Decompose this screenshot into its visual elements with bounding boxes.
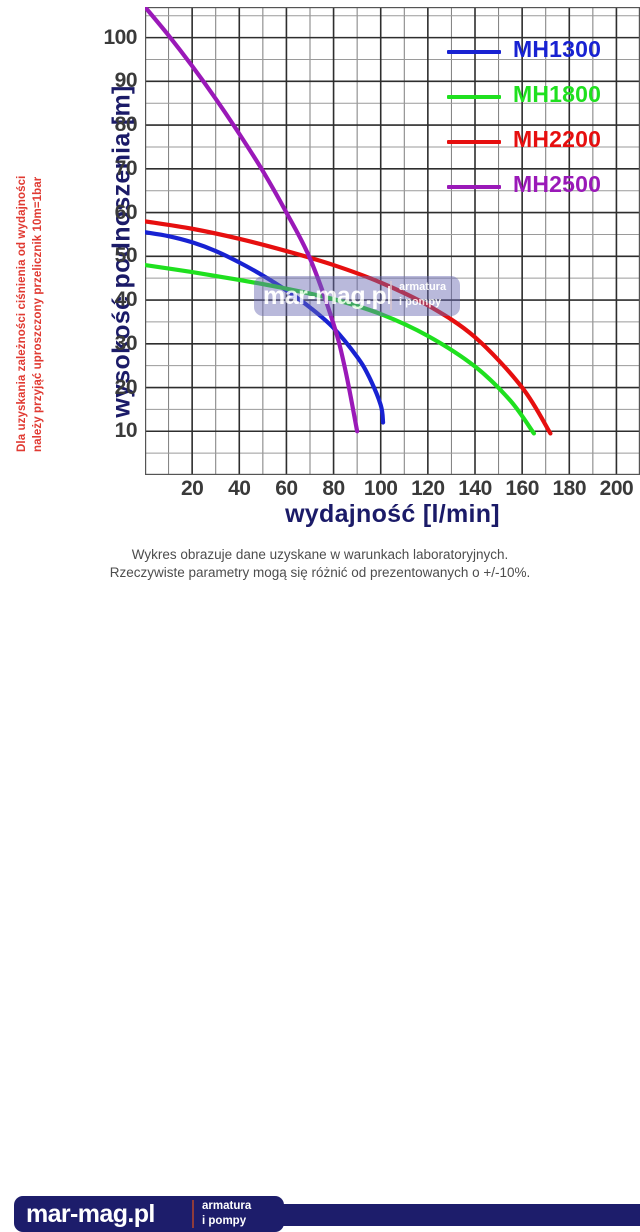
y-tick-label: 100 <box>89 27 137 48</box>
footnote-line-2: Rzeczywiste parametry mogą się różnić od… <box>0 564 640 582</box>
logo-divider <box>192 1200 194 1228</box>
logo-sub-text-1: armatura <box>202 1199 251 1214</box>
brand-bar-accent <box>268 1204 640 1226</box>
logo-main-text: mar-mag.pl <box>26 1199 155 1229</box>
watermark-main-text: mar-mag.pl <box>263 281 393 311</box>
y-tick-label: 40 <box>89 289 137 310</box>
y-tick-label: 30 <box>89 333 137 354</box>
x-tick-label: 200 <box>591 478 640 499</box>
footnote-line-1: Wykres obrazuje dane uzyskane w warunkac… <box>0 546 640 564</box>
footnote: Wykres obrazuje dane uzyskane w warunkac… <box>0 546 640 582</box>
x-tick-label: 80 <box>309 478 359 499</box>
y-tick-label: 60 <box>89 202 137 223</box>
brand-logo[interactable]: mar-mag.pl armatura i pompy <box>14 1196 284 1232</box>
y-tick-label: 50 <box>89 245 137 266</box>
legend-label: MH1300 <box>513 36 601 63</box>
x-tick-label: 160 <box>497 478 547 499</box>
x-tick-label: 180 <box>544 478 594 499</box>
x-tick-label: 60 <box>261 478 311 499</box>
bottom-bar: mar-mag.pl armatura i pompy <box>0 596 640 640</box>
y-tick-label: 90 <box>89 70 137 91</box>
y-tick-label: 20 <box>89 377 137 398</box>
legend-swatch-mh1300 <box>447 50 501 54</box>
legend-label: MH2500 <box>513 171 601 198</box>
y-tick-label: 70 <box>89 158 137 179</box>
x-tick-label: 120 <box>403 478 453 499</box>
legend-label: MH2200 <box>513 126 601 153</box>
x-tick-label: 20 <box>167 478 217 499</box>
watermark-sub-text-1: armatura <box>399 280 446 295</box>
x-tick-label: 100 <box>356 478 406 499</box>
watermark: mar-mag.pl armatura i pompy <box>254 276 460 316</box>
legend-swatch-mh2200 <box>447 140 501 144</box>
legend-label: MH1800 <box>513 81 601 108</box>
y-tick-label: 80 <box>89 114 137 135</box>
watermark-divider <box>390 281 392 310</box>
x-axis-title: wydajność [l/min] <box>145 500 640 529</box>
logo-sub-text-2: i pompy <box>202 1214 246 1229</box>
legend-swatch-mh2500 <box>447 185 501 189</box>
y-tick-label: 10 <box>89 420 137 441</box>
chart-page: Dla uzyskania zależności ciśnienia od wy… <box>0 0 640 640</box>
x-tick-label: 140 <box>450 478 500 499</box>
x-tick-label: 40 <box>214 478 264 499</box>
legend-swatch-mh1800 <box>447 95 501 99</box>
watermark-sub-text-2: i pompy <box>399 295 441 310</box>
